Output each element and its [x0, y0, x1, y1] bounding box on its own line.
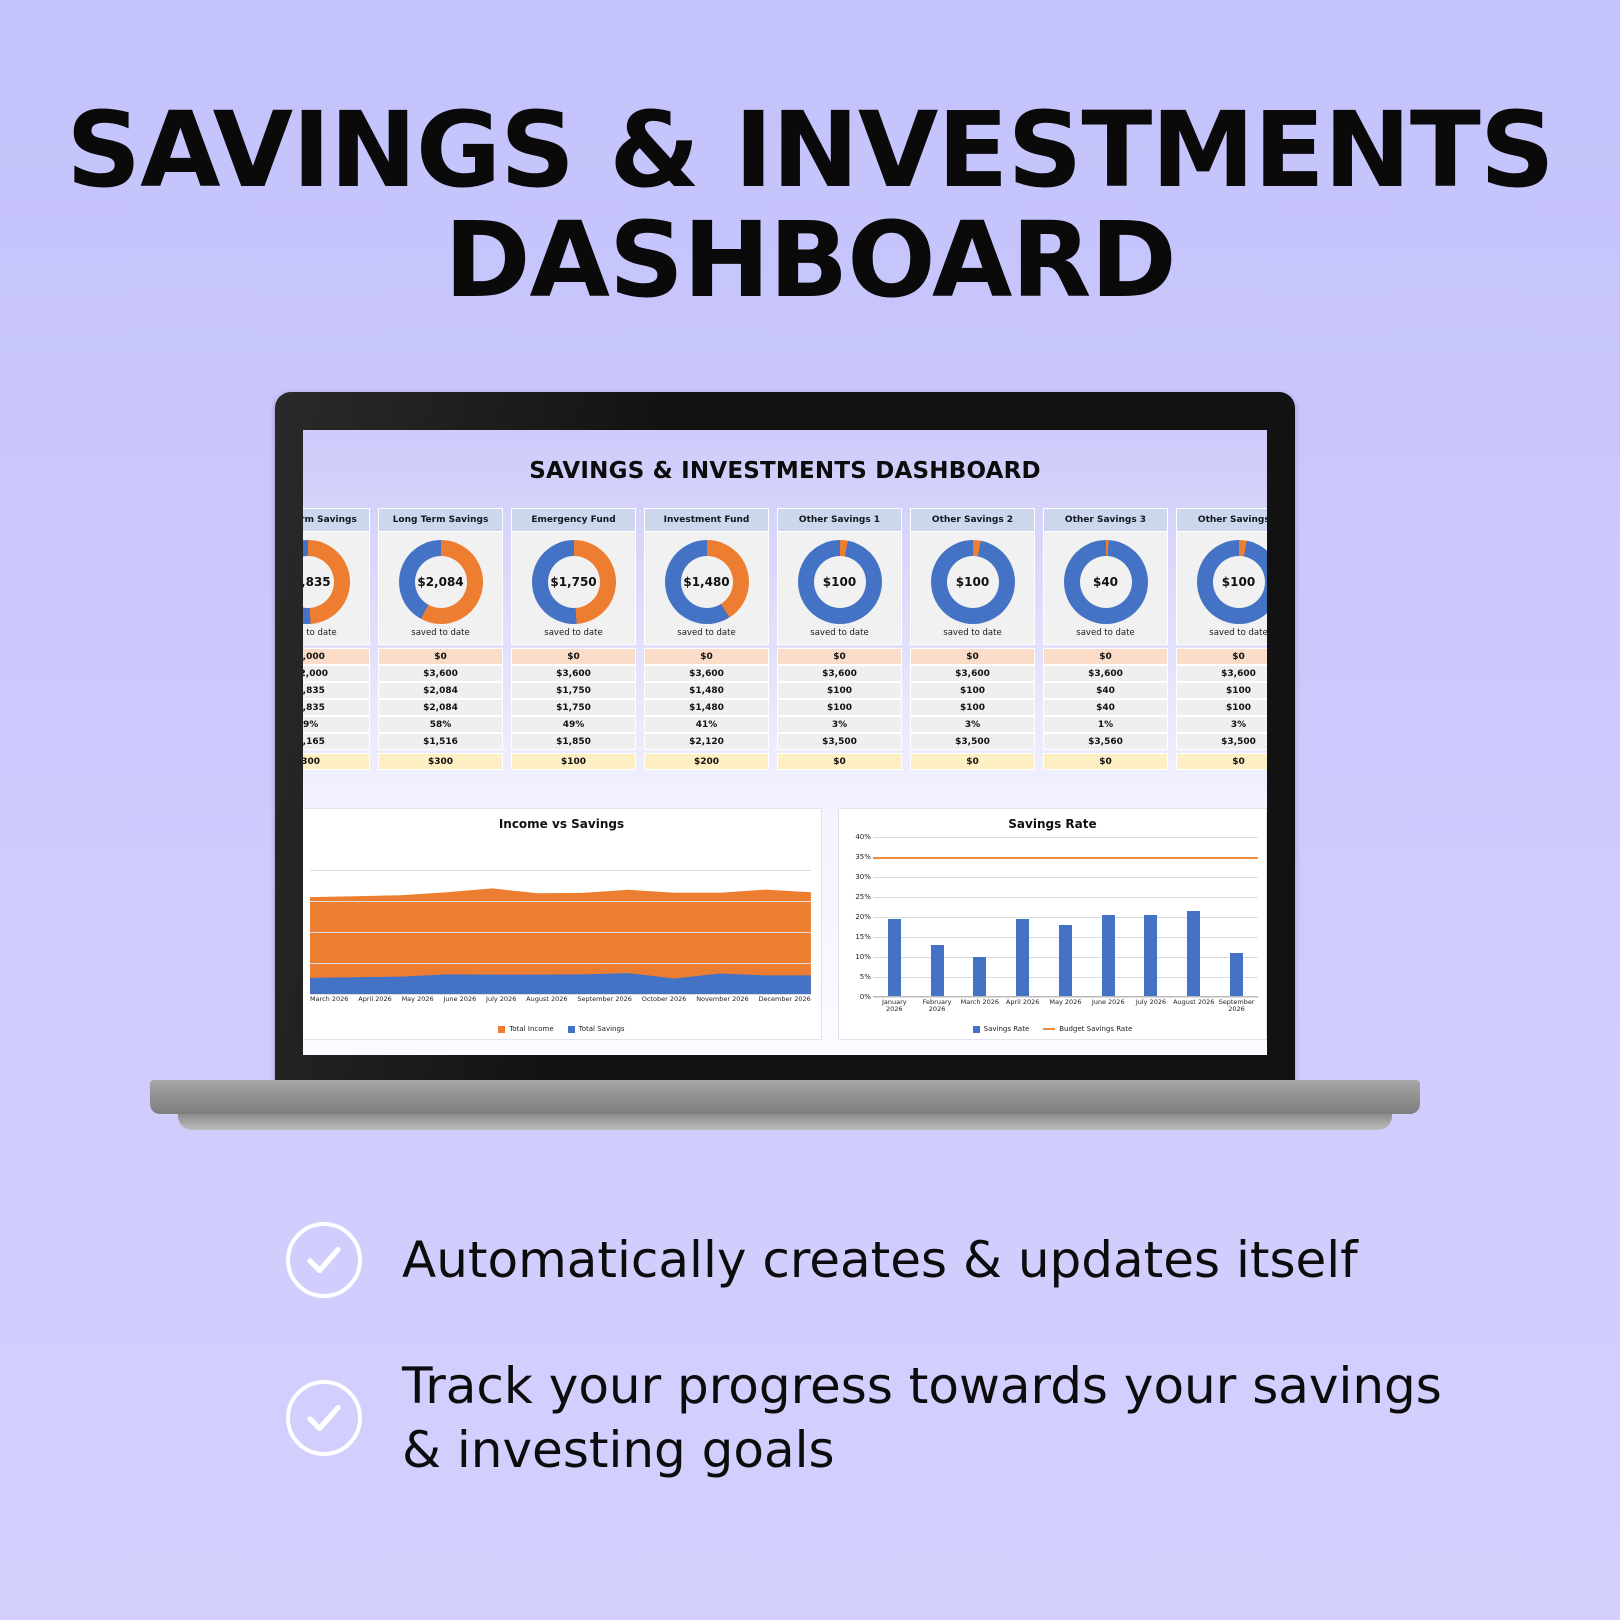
x-tick-label: April 2026 — [358, 995, 391, 1009]
x-tick-label: July 2026 — [1130, 999, 1172, 1019]
laptop-mockup: SAVINGS & INVESTMENTS DASHBOARD Short Te… — [150, 392, 1420, 1152]
card-row-value: $2,084 — [378, 699, 503, 716]
card-row-value: $4,835 — [303, 682, 370, 699]
savings-card[interactable]: Investment Fund $1,480 saved to date $0$… — [644, 508, 769, 770]
card-row-value: $2,084 — [378, 682, 503, 699]
feature-bullet: Track your progress towards your savings… — [286, 1354, 1486, 1482]
x-tick-label: June 2026 — [443, 995, 476, 1009]
card-row-value: $3,600 — [1176, 665, 1267, 682]
x-tick-label: December 2026 — [758, 995, 810, 1009]
legend-item: Total Income — [498, 1025, 553, 1033]
income-chart-title: Income vs Savings — [303, 809, 821, 831]
bar — [1016, 919, 1029, 997]
x-tick-label: September 2026 — [1216, 999, 1258, 1019]
gridline — [310, 963, 811, 964]
x-tick-label: August 2026 — [526, 995, 567, 1009]
progress-donut-icon: $100 — [798, 540, 882, 624]
y-tick-label: 40% — [855, 833, 871, 841]
y-tick-label: 15% — [855, 933, 871, 941]
card-row-value: $3,600 — [644, 665, 769, 682]
laptop-base — [150, 1080, 1420, 1114]
x-tick-label: March 2026 — [310, 995, 348, 1009]
saved-to-date-label: saved to date — [649, 628, 764, 638]
legend-label: Total Savings — [579, 1025, 625, 1033]
savings-rate-x-axis: January 2026February 2026March 2026April… — [873, 999, 1258, 1019]
progress-donut-icon: $100 — [931, 540, 1015, 624]
card-amount: $100 — [823, 575, 856, 589]
saved-to-date-label: saved to date — [782, 628, 897, 638]
card-header: Other Savings 2 — [910, 508, 1035, 532]
card-header: Short Term Savings — [303, 508, 370, 532]
x-tick-label: March 2026 — [959, 999, 1001, 1019]
card-row-value: $0 — [910, 648, 1035, 665]
check-circle-icon — [286, 1380, 362, 1456]
card-row-value: $3,500 — [910, 733, 1035, 750]
card-monthly-contribution: $300 — [378, 753, 503, 770]
card-body: $5,835 saved to date — [303, 532, 370, 645]
card-amount: $1,750 — [550, 575, 596, 589]
x-tick-label: May 2026 — [1044, 999, 1086, 1019]
savings-card[interactable]: Emergency Fund $1,750 saved to date $0$3… — [511, 508, 636, 770]
card-monthly-contribution: $300 — [303, 753, 370, 770]
card-header: Other Savings 1 — [777, 508, 902, 532]
legend-label: Savings Rate — [984, 1025, 1030, 1033]
card-row-value: 3% — [777, 716, 902, 733]
card-header: Other Savings 4 — [1176, 508, 1267, 532]
savings-cards-row: Short Term Savings $5,835 saved to date … — [303, 508, 1267, 770]
card-header: Other Savings 3 — [1043, 508, 1168, 532]
saved-to-date-label: saved to date — [383, 628, 498, 638]
card-rows: $0$3,600$40$401%$3,560 $0 — [1043, 648, 1168, 770]
progress-donut-icon: $100 — [1197, 540, 1268, 624]
card-amount: $40 — [1093, 575, 1118, 589]
card-row-value: $1,750 — [511, 699, 636, 716]
bar — [888, 919, 901, 997]
card-monthly-contribution: $0 — [1043, 753, 1168, 770]
legend-item: Total Savings — [568, 1025, 625, 1033]
card-row-value: $5,835 — [303, 699, 370, 716]
card-body: $100 saved to date — [1176, 532, 1267, 645]
saved-to-date-label: saved to date — [303, 628, 365, 638]
gridline — [310, 932, 811, 933]
feature-bullets: Automatically creates & updates itself T… — [286, 1222, 1486, 1538]
card-rows: $0$3,600$100$1003%$3,500 $0 — [777, 648, 902, 770]
card-row-value: $100 — [910, 699, 1035, 716]
card-row-value: $1,480 — [644, 699, 769, 716]
card-body: $1,750 saved to date — [511, 532, 636, 645]
legend-label: Budget Savings Rate — [1059, 1025, 1132, 1033]
legend-swatch — [1043, 1028, 1055, 1030]
y-tick-label: 20% — [855, 913, 871, 921]
legend-swatch — [973, 1026, 980, 1033]
progress-donut-icon: $5,835 — [303, 540, 350, 624]
card-body: $100 saved to date — [777, 532, 902, 645]
card-row-value: $2,120 — [644, 733, 769, 750]
card-row-value: 49% — [511, 716, 636, 733]
legend-item: Savings Rate — [973, 1025, 1030, 1033]
card-amount: $2,084 — [417, 575, 463, 589]
hero-line-1: SAVINGS & INVESTMENTS — [66, 89, 1553, 211]
card-row-value: 3% — [1176, 716, 1267, 733]
hero-line-2: DASHBOARD — [444, 199, 1176, 321]
card-rows: $1,000$12,000$4,835$5,83549%$7,165 $300 — [303, 648, 370, 770]
y-tick-label: 35% — [855, 853, 871, 861]
card-row-value: 49% — [303, 716, 370, 733]
card-row-value: $100 — [777, 682, 902, 699]
card-row-value: $3,560 — [1043, 733, 1168, 750]
bar — [1144, 915, 1157, 997]
income-area-svg — [310, 839, 811, 994]
card-rows: $0$3,600$1,750$1,75049%$1,850 $100 — [511, 648, 636, 770]
card-rows: $0$3,600$100$1003%$3,500 $0 — [1176, 648, 1267, 770]
legend-swatch — [498, 1026, 505, 1033]
card-row-value: $0 — [378, 648, 503, 665]
card-amount: $1,480 — [683, 575, 729, 589]
x-tick-label: February 2026 — [916, 999, 958, 1019]
check-circle-icon — [286, 1222, 362, 1298]
card-row-value: $0 — [511, 648, 636, 665]
card-rows: $0$3,600$1,480$1,48041%$2,120 $200 — [644, 648, 769, 770]
savings-rate-y-axis: 0%5%10%15%20%25%30%35%40% — [843, 837, 871, 997]
card-row-value: $0 — [1043, 648, 1168, 665]
savings-rate-chart[interactable]: Savings Rate 0%5%10%15%20%25%30%35%40% J… — [838, 808, 1267, 1040]
progress-donut-icon: $1,750 — [532, 540, 616, 624]
card-row-value: $3,500 — [1176, 733, 1267, 750]
card-monthly-contribution: $0 — [1176, 753, 1267, 770]
x-tick-label: October 2026 — [642, 995, 687, 1009]
saved-to-date-label: saved to date — [915, 628, 1030, 638]
card-row-value: $100 — [777, 699, 902, 716]
card-row-value: $1,850 — [511, 733, 636, 750]
card-row-value: $3,600 — [777, 665, 902, 682]
savings-rate-title: Savings Rate — [839, 809, 1266, 831]
savings-rate-legend: Savings Rate Budget Savings Rate — [839, 1025, 1266, 1033]
savings-card[interactable]: Long Term Savings $2,084 saved to date $… — [378, 508, 503, 770]
card-row-value: $40 — [1043, 682, 1168, 699]
saved-to-date-label: saved to date — [516, 628, 631, 638]
card-row-value: $100 — [1176, 682, 1267, 699]
income-chart-x-axis: March 2026April 2026May 2026June 2026Jul… — [310, 995, 811, 1009]
y-tick-label: 25% — [855, 893, 871, 901]
x-tick-label: July 2026 — [486, 995, 516, 1009]
card-row-value: $1,000 — [303, 648, 370, 665]
card-monthly-contribution: $200 — [644, 753, 769, 770]
card-amount: $100 — [956, 575, 989, 589]
card-row-value: $1,750 — [511, 682, 636, 699]
card-row-value: $3,600 — [910, 665, 1035, 682]
card-amount: $5,835 — [303, 575, 331, 589]
card-row-value: 3% — [910, 716, 1035, 733]
y-tick-label: 10% — [855, 953, 871, 961]
laptop-screen: SAVINGS & INVESTMENTS DASHBOARD Short Te… — [303, 430, 1267, 1055]
card-row-value: 1% — [1043, 716, 1168, 733]
card-header: Emergency Fund — [511, 508, 636, 532]
card-rows: $0$3,600$2,084$2,08458%$1,516 $300 — [378, 648, 503, 770]
card-row-value: $12,000 — [303, 665, 370, 682]
income-chart-legend: Total Income Total Savings — [303, 1025, 821, 1033]
card-body: $2,084 saved to date — [378, 532, 503, 645]
laptop-lid: SAVINGS & INVESTMENTS DASHBOARD Short Te… — [275, 392, 1295, 1092]
card-body: $40 saved to date — [1043, 532, 1168, 645]
progress-donut-icon: $40 — [1064, 540, 1148, 624]
feature-bullet-text: Automatically creates & updates itself — [402, 1228, 1358, 1292]
x-tick-label: November 2026 — [696, 995, 748, 1009]
card-row-value: $1,516 — [378, 733, 503, 750]
card-row-value: $100 — [1176, 699, 1267, 716]
card-body: $100 saved to date — [910, 532, 1035, 645]
card-row-value: $0 — [644, 648, 769, 665]
card-monthly-contribution: $0 — [910, 753, 1035, 770]
bars-container — [873, 837, 1258, 997]
bar — [931, 945, 944, 997]
card-row-value: $3,600 — [511, 665, 636, 682]
card-row-value: $40 — [1043, 699, 1168, 716]
card-header: Long Term Savings — [378, 508, 503, 532]
income-vs-savings-chart[interactable]: Income vs Savings March 2026April 2026Ma… — [303, 808, 822, 1040]
charts-row: Income vs Savings March 2026April 2026Ma… — [303, 808, 1267, 1048]
x-tick-label: June 2026 — [1087, 999, 1129, 1019]
legend-item: Budget Savings Rate — [1043, 1025, 1132, 1033]
feature-bullet: Automatically creates & updates itself — [286, 1222, 1486, 1298]
savings-card[interactable]: Other Savings 2 $100 saved to date $0$3,… — [910, 508, 1035, 770]
card-row-value: $7,165 — [303, 733, 370, 750]
x-tick-label: April 2026 — [1002, 999, 1044, 1019]
card-row-value: $3,600 — [378, 665, 503, 682]
card-rows: $0$3,600$100$1003%$3,500 $0 — [910, 648, 1035, 770]
y-tick-label: 5% — [860, 973, 871, 981]
card-monthly-contribution: $100 — [511, 753, 636, 770]
x-tick-label: May 2026 — [402, 995, 434, 1009]
card-row-value: 41% — [644, 716, 769, 733]
card-row-value: $0 — [777, 648, 902, 665]
gridline — [310, 870, 811, 871]
card-row-value: 58% — [378, 716, 503, 733]
card-monthly-contribution: $0 — [777, 753, 902, 770]
bar — [1187, 911, 1200, 997]
card-amount: $100 — [1222, 575, 1255, 589]
savings-card[interactable]: Other Savings 3 $40 saved to date $0$3,6… — [1043, 508, 1168, 770]
saved-to-date-label: saved to date — [1181, 628, 1267, 638]
y-tick-label: 30% — [855, 873, 871, 881]
bar — [1059, 925, 1072, 997]
laptop-front-lip — [178, 1114, 1392, 1130]
card-row-value: $0 — [1176, 648, 1267, 665]
x-tick-label: August 2026 — [1173, 999, 1215, 1019]
savings-card[interactable]: Short Term Savings $5,835 saved to date … — [303, 508, 370, 770]
card-header: Investment Fund — [644, 508, 769, 532]
x-tick-label: January 2026 — [873, 999, 915, 1019]
legend-swatch — [568, 1026, 575, 1033]
bar — [1230, 953, 1243, 997]
progress-donut-icon: $1,480 — [665, 540, 749, 624]
bar — [973, 957, 986, 997]
bar — [1102, 915, 1115, 997]
saved-to-date-label: saved to date — [1048, 628, 1163, 638]
budget-savings-rate-line — [873, 857, 1258, 859]
card-row-value: $1,480 — [644, 682, 769, 699]
income-chart-plot — [310, 839, 811, 994]
spreadsheet-dashboard: SAVINGS & INVESTMENTS DASHBOARD Short Te… — [303, 430, 1267, 1055]
hero-title: SAVINGS & INVESTMENTS DASHBOARD — [0, 95, 1620, 315]
dashboard-title: SAVINGS & INVESTMENTS DASHBOARD — [303, 430, 1267, 484]
y-tick-label: 0% — [860, 993, 871, 1001]
savings-card[interactable]: Other Savings 1 $100 saved to date $0$3,… — [777, 508, 902, 770]
card-row-value: $3,500 — [777, 733, 902, 750]
x-tick-label: September 2026 — [577, 995, 632, 1009]
savings-rate-plot — [873, 837, 1258, 997]
feature-bullet-text: Track your progress towards your savings… — [402, 1354, 1486, 1482]
card-body: $1,480 saved to date — [644, 532, 769, 645]
card-row-value: $100 — [910, 682, 1035, 699]
savings-card[interactable]: Other Savings 4 $100 saved to date $0$3,… — [1176, 508, 1267, 770]
legend-label: Total Income — [509, 1025, 553, 1033]
progress-donut-icon: $2,084 — [399, 540, 483, 624]
x-axis-line — [873, 996, 1258, 997]
gridline — [310, 901, 811, 902]
card-row-value: $3,600 — [1043, 665, 1168, 682]
